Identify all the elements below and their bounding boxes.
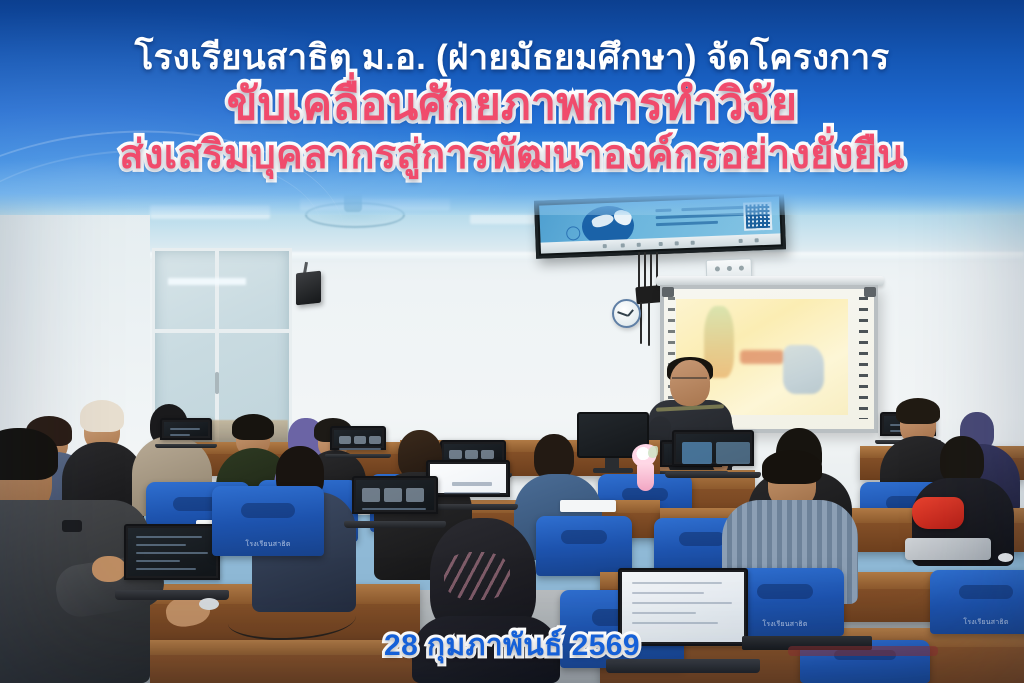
event-poster: IT PSU (0, 0, 1024, 683)
laptop (672, 430, 754, 478)
title-line-2: ขับเคลื่อนศักยภาพการทำวิจัย (227, 79, 798, 129)
laptop-foreground (124, 524, 220, 600)
mouse (998, 553, 1013, 562)
chair: โรงเรียนสาธิต (212, 486, 324, 556)
title-block: โรงเรียนสาธิต ม.อ. (ฝ่ายมัธยมศึกษา) จัดโ… (0, 0, 1024, 215)
red-jacket (912, 497, 964, 529)
event-date-text: 28 กุมภาพันธ์ 2569 (384, 622, 640, 669)
hand (92, 556, 126, 582)
paper-sheet (560, 500, 616, 512)
laptop (352, 476, 438, 528)
headscarf-pattern (444, 552, 510, 600)
flower-vase (637, 463, 654, 491)
door-handle (215, 372, 219, 394)
laptop (160, 418, 212, 448)
wall-clock-icon (612, 299, 641, 328)
chair (536, 516, 632, 576)
wall-speaker-icon (296, 271, 321, 306)
event-date: 28 กุมภาพันธ์ 2569 (0, 622, 1024, 669)
wristwatch-icon (62, 520, 82, 532)
laptop (330, 426, 386, 458)
chair-label: โรงเรียนสาธิต (212, 539, 324, 550)
title-line-1: โรงเรียนสาธิต ม.อ. (ฝ่ายมัธยมศึกษา) จัดโ… (135, 38, 890, 77)
mouse (199, 598, 219, 610)
corridor-light (168, 278, 246, 285)
title-line-3: ส่งเสริมบุคลากรสู่การพัฒนาองค์กรอย่างยั่… (119, 133, 904, 178)
grey-folder (905, 538, 991, 560)
laptop (426, 460, 510, 510)
